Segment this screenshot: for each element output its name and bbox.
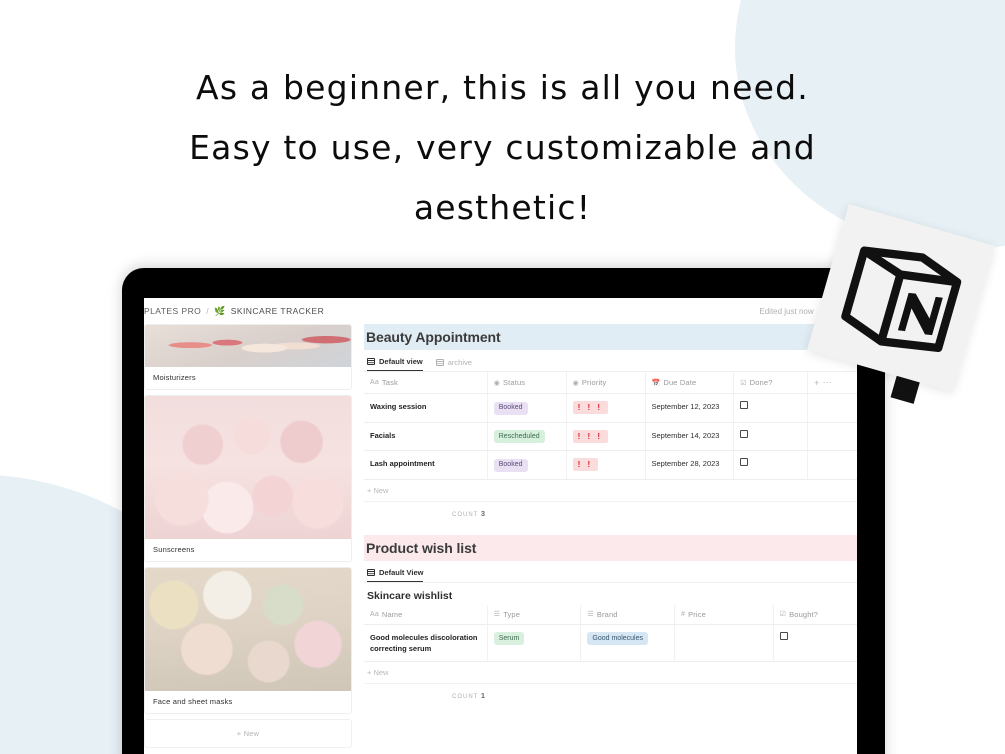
table-header-row: AaTask ◉Status ◉Priority 📅Due Date ☑Done… <box>364 372 857 394</box>
column-label: Status <box>503 378 525 387</box>
cell-task[interactable]: Lash appointment <box>364 451 487 480</box>
card-label: Moisturizers <box>145 367 351 389</box>
column-header-status[interactable]: ◉Status <box>487 372 566 394</box>
edited-status: Edited just now <box>759 307 813 316</box>
column-header-price[interactable]: #Price <box>675 605 774 625</box>
breadcrumb[interactable]: PLATES PRO / 🌿 SKINCARE TRACKER <box>144 306 324 317</box>
cell-priority[interactable]: ! ! ! <box>566 394 645 423</box>
cell-status[interactable]: Rescheduled <box>487 422 566 451</box>
gallery-card[interactable]: Moisturizers <box>144 324 352 390</box>
cell-due-date[interactable]: September 12, 2023 <box>645 394 734 423</box>
plant-emoji-icon: 🌿 <box>214 306 226 317</box>
cell-bought[interactable] <box>773 624 857 661</box>
checkbox[interactable] <box>740 430 748 438</box>
row-count-2: COUNT 1 <box>364 684 857 707</box>
table-icon <box>436 359 444 366</box>
checkbox[interactable] <box>780 632 788 640</box>
select-type-icon: ◉ <box>494 379 500 387</box>
column-header-brand[interactable]: ☰Brand <box>581 605 675 625</box>
table-icon <box>367 569 375 576</box>
database-subtitle: Skincare wishlist <box>364 583 857 605</box>
card-label: Sunscreens <box>145 539 351 561</box>
column-header-actions[interactable]: +⋯ <box>808 372 857 394</box>
multiselect-type-icon: ☰ <box>587 610 593 618</box>
card-cover-image <box>145 396 351 539</box>
view-tab-bar-1: Default view archive <box>364 350 857 372</box>
status-badge: Rescheduled <box>494 430 545 443</box>
status-badge: Booked <box>494 402 528 415</box>
status-badge: Booked <box>494 459 528 472</box>
cell-done[interactable] <box>734 451 808 480</box>
column-header-priority[interactable]: ◉Priority <box>566 372 645 394</box>
card-label: Face and sheet masks <box>145 691 351 713</box>
calendar-icon: 📅 <box>652 379 661 387</box>
tab-default-view-2[interactable]: Default View <box>367 568 423 582</box>
column-header-name[interactable]: AaName <box>364 605 487 625</box>
cell-task[interactable]: Waxing session <box>364 394 487 423</box>
page-body: Moisturizers Sunscreens Face and sheet m… <box>144 324 857 754</box>
tablet-device-frame: PLATES PRO / 🌿 SKINCARE TRACKER Edited j… <box>122 268 885 754</box>
breadcrumb-current[interactable]: SKINCARE TRACKER <box>231 306 324 316</box>
headline-line-3: aesthetic! <box>120 178 885 238</box>
cell-brand[interactable]: Good molecules <box>581 624 675 661</box>
tablet-screen: PLATES PRO / 🌿 SKINCARE TRACKER Edited j… <box>144 298 857 754</box>
cell-done[interactable] <box>734 394 808 423</box>
number-type-icon: # <box>681 611 685 618</box>
table-row[interactable]: Lash appointment Booked ! ! September 28… <box>364 451 857 480</box>
cell-priority[interactable]: ! ! ! <box>566 422 645 451</box>
notion-topbar: PLATES PRO / 🌿 SKINCARE TRACKER Edited j… <box>144 298 857 324</box>
column-header-type[interactable]: ☰Type <box>487 605 581 625</box>
card-cover-image <box>145 568 351 691</box>
cell-due-date[interactable]: September 28, 2023 <box>645 451 734 480</box>
cell-price[interactable] <box>675 624 774 661</box>
more-menu-icon[interactable]: ⋯ <box>823 377 833 388</box>
cell-type[interactable]: Serum <box>487 624 581 661</box>
new-row-button[interactable]: + New <box>364 480 857 502</box>
headline-line-1: As a beginner, this is all you need. <box>120 58 885 118</box>
card-cover-image <box>145 325 351 367</box>
column-label: Task <box>382 378 398 387</box>
text-type-icon: Aa <box>370 379 379 386</box>
breadcrumb-parent[interactable]: PLATES PRO <box>144 306 201 316</box>
cell-priority[interactable]: ! ! <box>566 451 645 480</box>
database-column: Beauty Appointment Default view archive <box>358 324 857 754</box>
headline-line-2: Easy to use, very customizable and <box>120 118 885 178</box>
cell-status[interactable]: Booked <box>487 451 566 480</box>
notion-logo-icon <box>828 225 974 371</box>
new-row-button-2[interactable]: + New <box>364 662 857 684</box>
column-label: Done? <box>750 378 773 387</box>
column-header-bought[interactable]: ☑Bought? <box>773 605 857 625</box>
gallery-new-button[interactable]: + New <box>144 719 352 748</box>
cell-name[interactable]: Good molecules discoloration correcting … <box>364 624 487 661</box>
table-icon <box>367 358 375 365</box>
priority-badge: ! ! ! <box>573 430 608 443</box>
view-tab-bar-2: Default View <box>364 561 857 583</box>
database-title-beauty-appointment: Beauty Appointment <box>364 324 857 350</box>
table-skincare-wishlist: AaName ☰Type ☰Brand #Price ☑Bought? Good… <box>364 605 857 662</box>
table-row[interactable]: Facials Rescheduled ! ! ! September 14, … <box>364 422 857 451</box>
tab-label: archive <box>448 358 472 367</box>
table-header-row: AaName ☰Type ☰Brand #Price ☑Bought? <box>364 605 857 625</box>
cell-due-date[interactable]: September 14, 2023 <box>645 422 734 451</box>
cell-empty <box>808 451 857 480</box>
table-row[interactable]: Good molecules discoloration correcting … <box>364 624 857 661</box>
type-badge: Serum <box>494 632 525 645</box>
checkbox[interactable] <box>740 458 748 466</box>
multiselect-type-icon: ☰ <box>494 610 500 618</box>
cell-done[interactable] <box>734 422 808 451</box>
column-label: Brand <box>597 610 618 619</box>
brand-badge: Good molecules <box>587 632 648 645</box>
tab-default-view[interactable]: Default view <box>367 357 423 371</box>
add-column-icon[interactable]: + <box>814 378 819 388</box>
gallery-card[interactable]: Face and sheet masks <box>144 567 352 714</box>
column-header-due-date[interactable]: 📅Due Date <box>645 372 734 394</box>
column-label: Due Date <box>663 378 696 387</box>
tab-label: Default view <box>379 357 423 366</box>
checkbox-type-icon: ☑ <box>740 379 746 387</box>
column-label: Priority <box>582 378 607 387</box>
count-label: COUNT <box>452 512 478 518</box>
select-type-icon: ◉ <box>573 379 579 387</box>
column-header-done[interactable]: ☑Done? <box>734 372 808 394</box>
notion-n-glyph <box>898 288 943 339</box>
table-beauty-appointment: AaTask ◉Status ◉Priority 📅Due Date ☑Done… <box>364 372 857 480</box>
column-label: Type <box>503 610 520 619</box>
gallery-column: Moisturizers Sunscreens Face and sheet m… <box>144 324 358 754</box>
breadcrumb-separator: / <box>206 306 209 316</box>
tab-archive[interactable]: archive <box>436 358 472 371</box>
count-value: 1 <box>481 691 485 700</box>
column-header-task[interactable]: AaTask <box>364 372 487 394</box>
cell-empty <box>808 394 857 423</box>
checkbox-type-icon: ☑ <box>780 610 786 618</box>
cell-empty <box>808 422 857 451</box>
count-value: 3 <box>481 509 485 518</box>
row-count-1: COUNT 3 <box>364 502 857 525</box>
column-label: Bought? <box>789 610 818 619</box>
priority-badge: ! ! ! <box>573 401 608 414</box>
priority-badge: ! ! <box>573 458 598 471</box>
table-row[interactable]: Waxing session Booked ! ! ! September 12… <box>364 394 857 423</box>
tab-label: Default View <box>379 568 423 577</box>
count-label: COUNT <box>452 694 478 700</box>
gallery-card[interactable]: Sunscreens <box>144 395 352 562</box>
checkbox[interactable] <box>740 401 748 409</box>
database-title-product-wish-list: Product wish list <box>364 535 857 561</box>
column-label: Name <box>382 610 403 619</box>
cell-status[interactable]: Booked <box>487 394 566 423</box>
cell-task[interactable]: Facials <box>364 422 487 451</box>
text-type-icon: Aa <box>370 611 379 618</box>
column-label: Price <box>688 610 706 619</box>
